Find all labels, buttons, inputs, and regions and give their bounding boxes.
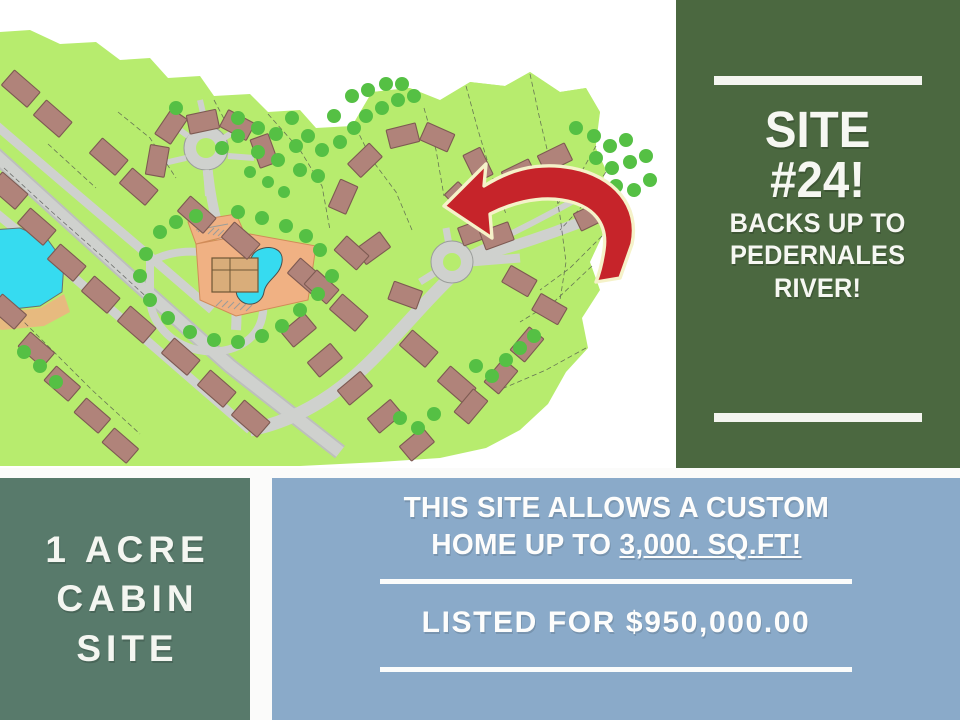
offer-divider-bottom <box>380 667 852 672</box>
site-callout-panel: SITE #24! BACKS UP TO PEDERNALES RIVER! <box>676 0 960 468</box>
offer-headline-prefix: HOME UP TO <box>431 529 619 561</box>
acre-label-panel: 1 ACRE CABIN SITE <box>0 478 250 720</box>
offer-sqft-highlight: 3,000. SQ.FT! <box>619 529 801 561</box>
offer-price-text: LISTED FOR $950,000.00 <box>422 608 811 638</box>
site-callout-text: SITE #24! BACKS UP TO PEDERNALES RIVER! <box>724 105 911 303</box>
top-rule-bar <box>714 76 922 85</box>
site-plan-graphic <box>0 0 676 468</box>
site-line-4: PEDERNALES <box>730 242 906 270</box>
acre-line-2: CABIN <box>45 574 209 623</box>
site-line-5: RIVER! <box>730 275 906 303</box>
site-line-1: SITE <box>731 105 905 155</box>
site-line-2: #24! <box>731 155 905 205</box>
offer-divider-top <box>380 579 852 584</box>
acre-label-text: 1 ACRE CABIN SITE <box>40 525 209 673</box>
clubhouse-building <box>212 258 258 292</box>
offer-headline: THIS SITE ALLOWS A CUSTOM HOME UP TO 3,0… <box>403 490 829 564</box>
offer-headline-line-2: HOME UP TO 3,000. SQ.FT! <box>403 527 829 564</box>
bottom-rule-bar <box>714 413 922 422</box>
offer-details-panel: THIS SITE ALLOWS A CUSTOM HOME UP TO 3,0… <box>272 478 960 720</box>
cul-de-sac-east <box>431 241 473 283</box>
site-line-3: BACKS UP TO <box>730 210 906 238</box>
acre-line-3: SITE <box>45 624 209 673</box>
offer-headline-line-1: THIS SITE ALLOWS A CUSTOM <box>403 490 829 527</box>
marketing-flyer: SITE #24! BACKS UP TO PEDERNALES RIVER! … <box>0 0 960 720</box>
site-plan-map[interactable] <box>0 0 676 468</box>
acre-line-1: 1 ACRE <box>45 525 209 574</box>
